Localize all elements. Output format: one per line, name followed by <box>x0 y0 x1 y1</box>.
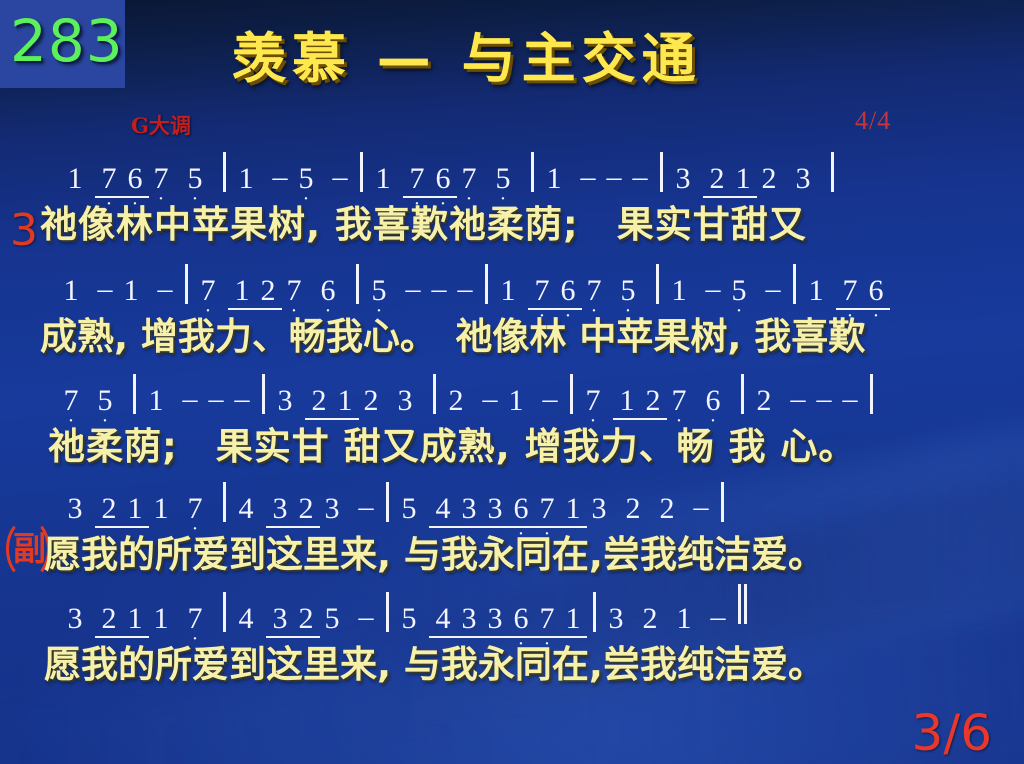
octave-dot-low: · <box>122 194 148 214</box>
note-digit: 7 <box>102 162 117 195</box>
note-digit: 7 <box>535 274 550 307</box>
note-digit: 1 <box>128 602 143 635</box>
note-digit: 1 <box>154 492 169 525</box>
barline <box>386 592 389 632</box>
octave-dot-low: · <box>456 189 482 209</box>
note-digit: 2 <box>299 602 314 635</box>
octave-dot-low: · <box>148 189 174 209</box>
jianpu-note: 2 <box>654 494 680 524</box>
jianpu-note: 1 <box>666 276 692 306</box>
jianpu-note: 5· <box>615 276 641 306</box>
octave-dot-low: · <box>430 194 456 214</box>
barline <box>593 592 596 632</box>
lyric-row: 祂柔荫; 果实甘 甜又成熟, 增我力、畅 我 心。 <box>0 416 1024 470</box>
note-digit: 1 <box>68 162 83 195</box>
note-digit: 3 <box>325 492 340 525</box>
music-system: 1–1–7·127·6·5·–––17·6·7·5·1–5·–17·6·成熟, … <box>0 262 1024 360</box>
barline <box>660 152 663 192</box>
note-digit: 1 <box>64 274 79 307</box>
note-digit: 3 <box>462 492 477 525</box>
octave-dot-low: · <box>529 306 555 326</box>
jianpu-note: 1 <box>143 386 169 416</box>
note-digit: 3 <box>609 602 624 635</box>
jianpu-note: 6· <box>700 386 726 416</box>
note-digit: 4 <box>239 492 254 525</box>
octave-dot-low: · <box>281 301 307 321</box>
barline <box>223 152 226 192</box>
note-digit: 7 <box>410 162 425 195</box>
barline <box>570 374 573 414</box>
jianpu-note: 3 <box>267 494 293 524</box>
note-digit: 1 <box>501 274 516 307</box>
duration-dash: – <box>452 272 478 306</box>
duration-dash: – <box>537 382 563 416</box>
jianpu-note: 1 <box>118 276 144 306</box>
barline <box>721 482 724 522</box>
octave-dot-low: · <box>366 301 392 321</box>
note-digit: 2 <box>312 384 327 417</box>
jianpu-note: 6· <box>315 276 341 306</box>
jianpu-note: 5 <box>396 604 422 634</box>
page-title: 羡慕 — 与主交通 <box>232 32 702 86</box>
note-digit: 6 <box>561 274 576 307</box>
notation-row: 17·6·7·5·1–5·–17·6·7·5·1–––32123 <box>0 150 1024 194</box>
note-digit: 6 <box>128 162 143 195</box>
note-digit: 2 <box>449 384 464 417</box>
jianpu-note: 1 <box>560 494 586 524</box>
jianpu-note: 7· <box>534 494 560 524</box>
note-digit: 2 <box>646 384 661 417</box>
octave-dot-low: · <box>182 189 208 209</box>
jianpu-note: 7· <box>456 164 482 194</box>
jianpu-note: 7· <box>581 276 607 306</box>
jianpu-note: 1 <box>122 604 148 634</box>
duration-dash: – <box>152 272 178 306</box>
octave-dot-low: · <box>404 194 430 214</box>
jianpu-note: 2 <box>96 494 122 524</box>
note-digit: 2 <box>757 384 772 417</box>
jianpu-note: 6· <box>122 164 148 194</box>
jianpu-note: 3 <box>603 604 629 634</box>
duration-dash: – <box>353 490 379 524</box>
octave-dot-low: · <box>96 194 122 214</box>
jianpu-note: 5· <box>182 164 208 194</box>
jianpu-note: 7· <box>182 494 208 524</box>
duration-dash: – <box>601 160 627 194</box>
time-signature: 4/4 <box>855 106 891 136</box>
note-digit: 1 <box>736 162 751 195</box>
note-digit: 3 <box>488 492 503 525</box>
note-digit: 1 <box>547 162 562 195</box>
slide-canvas: 283 羡慕 — 与主交通 G大调 4/4 3 副 17·6·7·5·1–5·–… <box>0 0 1024 764</box>
note-digit: 1 <box>672 274 687 307</box>
note-digit: 7 <box>540 492 555 525</box>
octave-dot-low: · <box>293 189 319 209</box>
octave-dot-low: · <box>58 411 84 431</box>
octave-dot-low: · <box>700 411 726 431</box>
note-digit: 2 <box>299 492 314 525</box>
barline <box>386 482 389 522</box>
jianpu-note: 2 <box>751 386 777 416</box>
note-digit: 3 <box>592 492 607 525</box>
jianpu-note: 1 <box>730 164 756 194</box>
note-digit: 4 <box>436 602 451 635</box>
note-digit: 3 <box>273 492 288 525</box>
note-digit: 6 <box>514 602 529 635</box>
jianpu-note: 3 <box>482 494 508 524</box>
jianpu-note: 1 <box>614 386 640 416</box>
jianpu-note: 4 <box>430 494 456 524</box>
jianpu-note: 1 <box>803 276 829 306</box>
barline <box>793 264 796 304</box>
barline <box>223 482 226 522</box>
duration-dash: – <box>92 272 118 306</box>
note-digit: 7 <box>843 274 858 307</box>
jianpu-note: 3 <box>456 604 482 634</box>
duration-dash: – <box>700 272 726 306</box>
jianpu-note: 6· <box>508 604 534 634</box>
duration-dash: – <box>229 382 255 416</box>
jianpu-note: 3 <box>586 494 612 524</box>
note-digit: 2 <box>261 274 276 307</box>
note-digit: 1 <box>376 162 391 195</box>
barline <box>741 374 744 414</box>
duration-dash: – <box>837 382 863 416</box>
note-digit: 5 <box>402 602 417 635</box>
jianpu-note: 1 <box>122 494 148 524</box>
duration-dash: – <box>426 272 452 306</box>
jianpu-note: 2 <box>443 386 469 416</box>
jianpu-note: 7· <box>195 276 221 306</box>
octave-dot-low: · <box>666 411 692 431</box>
jianpu-note: 5· <box>92 386 118 416</box>
jianpu-note: 3 <box>670 164 696 194</box>
jianpu-note: 2 <box>293 604 319 634</box>
note-digit: 1 <box>239 162 254 195</box>
octave-dot-low: · <box>195 301 221 321</box>
duration-dash: – <box>177 382 203 416</box>
note-digit: 6 <box>869 274 884 307</box>
octave-dot-low: · <box>182 629 208 649</box>
octave-dot-low: · <box>837 306 863 326</box>
octave-dot-low: · <box>508 524 534 544</box>
jianpu-note: 7· <box>58 386 84 416</box>
note-digit: 3 <box>488 602 503 635</box>
note-digit: 3 <box>676 162 691 195</box>
duration-dash: – <box>575 160 601 194</box>
octave-dot-low: · <box>581 301 607 321</box>
octave-dot-low: · <box>726 301 752 321</box>
jianpu-note: 3 <box>456 494 482 524</box>
jianpu-note: 6· <box>430 164 456 194</box>
jianpu-note: 2 <box>704 164 730 194</box>
barline <box>133 374 136 414</box>
jianpu-note: 3 <box>482 604 508 634</box>
jianpu-note: 1 <box>503 386 529 416</box>
note-digit: 1 <box>620 384 635 417</box>
jianpu-note: 7· <box>666 386 692 416</box>
note-digit: 3 <box>462 602 477 635</box>
jianpu-note: 1 <box>58 276 84 306</box>
barline <box>433 374 436 414</box>
jianpu-note: 3 <box>272 386 298 416</box>
barline <box>870 374 873 414</box>
duration-dash: – <box>477 382 503 416</box>
jianpu-note: 6· <box>555 276 581 306</box>
jianpu-note: 1 <box>495 276 521 306</box>
barline <box>360 152 363 192</box>
note-digit: 1 <box>566 602 581 635</box>
note-digit: 1 <box>154 602 169 635</box>
final-barline <box>738 584 747 632</box>
jianpu-note: 5 <box>319 604 345 634</box>
note-digit: 5 <box>402 492 417 525</box>
note-digit: 1 <box>566 492 581 525</box>
jianpu-note: 6· <box>863 276 889 306</box>
jianpu-note: 3 <box>392 386 418 416</box>
jianpu-note: 2 <box>306 386 332 416</box>
note-digit: 7 <box>540 602 555 635</box>
octave-dot-low: · <box>615 301 641 321</box>
duration-dash: – <box>353 600 379 634</box>
note-digit: 1 <box>809 274 824 307</box>
jianpu-note: 3 <box>267 604 293 634</box>
key-signature: G大调 <box>131 110 191 140</box>
octave-dot-low: · <box>863 306 889 326</box>
jianpu-note: 5· <box>366 276 392 306</box>
barline <box>485 264 488 304</box>
hymn-number-badge: 283 <box>0 0 125 88</box>
note-digit: 2 <box>762 162 777 195</box>
note-digit: 1 <box>338 384 353 417</box>
note-digit: 4 <box>436 492 451 525</box>
octave-dot-low: · <box>555 306 581 326</box>
duration-dash: – <box>785 382 811 416</box>
note-digit: 1 <box>149 384 164 417</box>
jianpu-note: 3 <box>319 494 345 524</box>
note-digit: 1 <box>235 274 250 307</box>
jianpu-note: 5· <box>490 164 516 194</box>
octave-dot-low: · <box>534 524 560 544</box>
barline <box>831 152 834 192</box>
note-digit: 2 <box>626 492 641 525</box>
jianpu-note: 2 <box>756 164 782 194</box>
jianpu-note: 4 <box>430 604 456 634</box>
duration-dash: – <box>400 272 426 306</box>
notation-row: 1–1–7·127·6·5·–––17·6·7·5·1–5·–17·6· <box>0 262 1024 306</box>
notation-row: 7·5·1–––321232–1–7·127·6·2––– <box>0 372 1024 416</box>
octave-dot-low: · <box>92 411 118 431</box>
jianpu-note: 1 <box>332 386 358 416</box>
jianpu-note: 5 <box>396 494 422 524</box>
note-digit: 2 <box>710 162 725 195</box>
note-digit: 3 <box>278 384 293 417</box>
duration-dash: – <box>203 382 229 416</box>
music-system: 17·6·7·5·1–5·–17·6·7·5·1–––32123祂像林中苹果树,… <box>0 150 1024 248</box>
duration-dash: – <box>705 600 731 634</box>
jianpu-note: 7· <box>148 164 174 194</box>
music-system: 7·5·1–––321232–1–7·127·6·2–––祂柔荫; 果实甘 甜又… <box>0 372 1024 470</box>
jianpu-note: 1 <box>148 604 174 634</box>
note-digit: 2 <box>364 384 379 417</box>
note-digit: 1 <box>677 602 692 635</box>
music-system: 32117·4323–54336·7·1322–愿我的所爱到这里来, 与我永同在… <box>0 480 1024 578</box>
jianpu-note: 1 <box>62 164 88 194</box>
duration-dash: – <box>327 160 353 194</box>
duration-dash: – <box>267 160 293 194</box>
note-digit: 1 <box>128 492 143 525</box>
jianpu-note: 6· <box>508 494 534 524</box>
note-digit: 6 <box>514 492 529 525</box>
note-digit: 1 <box>124 274 139 307</box>
barline <box>656 264 659 304</box>
jianpu-note: 1 <box>229 276 255 306</box>
duration-dash: – <box>688 490 714 524</box>
octave-dot-low: · <box>534 634 560 654</box>
jianpu-note: 1 <box>560 604 586 634</box>
jianpu-note: 4 <box>233 494 259 524</box>
jianpu-note: 7· <box>580 386 606 416</box>
jianpu-note: 7· <box>529 276 555 306</box>
jianpu-note: 1 <box>370 164 396 194</box>
note-digit: 3 <box>68 602 83 635</box>
jianpu-note: 2 <box>358 386 384 416</box>
jianpu-note: 3 <box>62 604 88 634</box>
note-digit: 2 <box>102 492 117 525</box>
notation-row: 32117·4325–54336·7·1321– <box>0 590 1024 634</box>
note-digit: 4 <box>239 602 254 635</box>
jianpu-note: 1 <box>233 164 259 194</box>
jianpu-note: 7· <box>404 164 430 194</box>
note-digit: 2 <box>660 492 675 525</box>
jianpu-note: 7· <box>534 604 560 634</box>
duration-dash: – <box>811 382 837 416</box>
page-counter: 3/6 <box>912 708 992 758</box>
octave-dot-low: · <box>315 301 341 321</box>
octave-dot-low: · <box>182 519 208 539</box>
note-digit: 3 <box>273 602 288 635</box>
jianpu-note: 2 <box>637 604 663 634</box>
jianpu-note: 1 <box>541 164 567 194</box>
note-digit: 2 <box>102 602 117 635</box>
octave-dot-low: · <box>490 189 516 209</box>
jianpu-note: 7· <box>837 276 863 306</box>
jianpu-note: 3 <box>790 164 816 194</box>
music-system: 32117·4325–54336·7·1321–愿我的所爱到这里来, 与我永同在… <box>0 590 1024 688</box>
hymn-number: 283 <box>10 12 124 70</box>
jianpu-note: 2 <box>96 604 122 634</box>
duration-dash: – <box>760 272 786 306</box>
jianpu-note: 7· <box>96 164 122 194</box>
barline <box>531 152 534 192</box>
jianpu-note: 2 <box>293 494 319 524</box>
note-digit: 6 <box>436 162 451 195</box>
note-digit: 1 <box>509 384 524 417</box>
notation-row: 32117·4323–54336·7·1322– <box>0 480 1024 524</box>
octave-dot-low: · <box>580 411 606 431</box>
octave-dot-low: · <box>508 634 534 654</box>
jianpu-note: 1 <box>671 604 697 634</box>
note-digit: 3 <box>796 162 811 195</box>
duration-dash: – <box>627 160 653 194</box>
jianpu-note: 5· <box>726 276 752 306</box>
note-digit: 5 <box>325 602 340 635</box>
jianpu-note: 1 <box>148 494 174 524</box>
note-digit: 3 <box>398 384 413 417</box>
note-digit: 3 <box>68 492 83 525</box>
jianpu-note: 2 <box>255 276 281 306</box>
jianpu-note: 2 <box>620 494 646 524</box>
jianpu-note: 2 <box>640 386 666 416</box>
note-digit: 2 <box>643 602 658 635</box>
jianpu-note: 5· <box>293 164 319 194</box>
barline <box>356 264 359 304</box>
jianpu-note: 7· <box>182 604 208 634</box>
jianpu-note: 4 <box>233 604 259 634</box>
barline <box>262 374 265 414</box>
jianpu-note: 7· <box>281 276 307 306</box>
jianpu-note: 3 <box>62 494 88 524</box>
barline <box>185 264 188 304</box>
barline <box>223 592 226 632</box>
